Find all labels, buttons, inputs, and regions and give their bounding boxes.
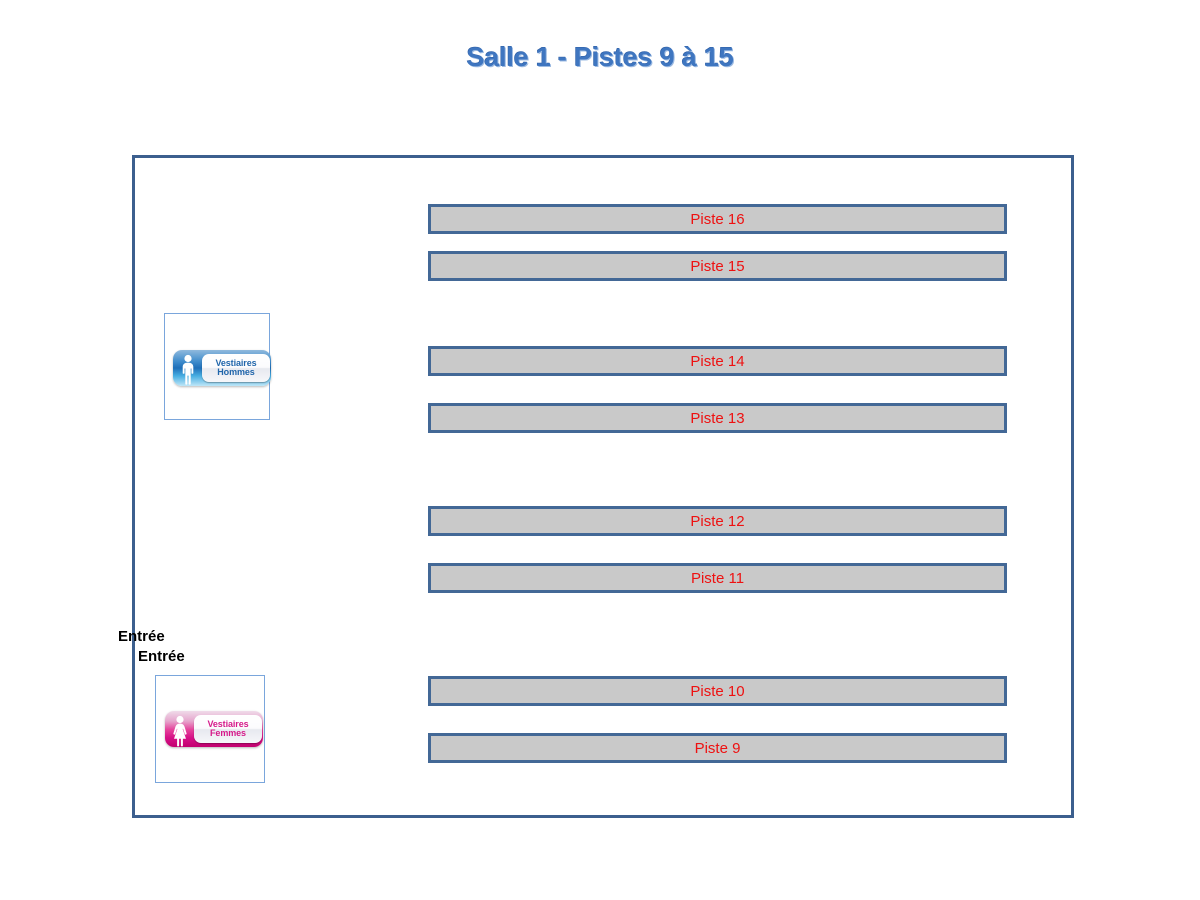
locker-room-women[interactable]: Vestiaires Femmes <box>155 675 265 783</box>
lane-piste-14[interactable]: Piste 14 <box>428 346 1007 376</box>
lane-label: Piste 10 <box>690 684 744 699</box>
locker-badge-men: Vestiaires Hommes <box>173 350 271 386</box>
lane-label: Piste 15 <box>690 259 744 274</box>
locker-badge-women: Vestiaires Femmes <box>165 711 263 747</box>
locker-badge-plate-women: Vestiaires Femmes <box>194 715 262 743</box>
lane-piste-16[interactable]: Piste 16 <box>428 204 1007 234</box>
entrance-label-2: Entrée <box>138 648 185 665</box>
lane-label: Piste 13 <box>690 411 744 426</box>
lane-label: Piste 9 <box>695 741 741 756</box>
male-figure-icon <box>173 350 203 386</box>
lane-label: Piste 16 <box>690 212 744 227</box>
locker-label-line2: Hommes <box>217 368 254 377</box>
lane-piste-12[interactable]: Piste 12 <box>428 506 1007 536</box>
female-figure-icon <box>165 711 195 747</box>
lane-piste-13[interactable]: Piste 13 <box>428 403 1007 433</box>
locker-badge-plate-men: Vestiaires Hommes <box>202 354 270 382</box>
locker-label-line2: Femmes <box>210 729 246 738</box>
page-title: Salle 1 - Pistes 9 à 15 <box>0 42 1200 73</box>
lane-piste-15[interactable]: Piste 15 <box>428 251 1007 281</box>
entrance-label-1: Entrée <box>118 628 165 645</box>
lane-label: Piste 12 <box>690 514 744 529</box>
lane-label: Piste 14 <box>690 354 744 369</box>
locker-room-men[interactable]: Vestiaires Hommes <box>164 313 270 420</box>
lane-label: Piste 11 <box>691 571 744 586</box>
lane-piste-11[interactable]: Piste 11 <box>428 563 1007 593</box>
lane-piste-9[interactable]: Piste 9 <box>428 733 1007 763</box>
lane-piste-10[interactable]: Piste 10 <box>428 676 1007 706</box>
